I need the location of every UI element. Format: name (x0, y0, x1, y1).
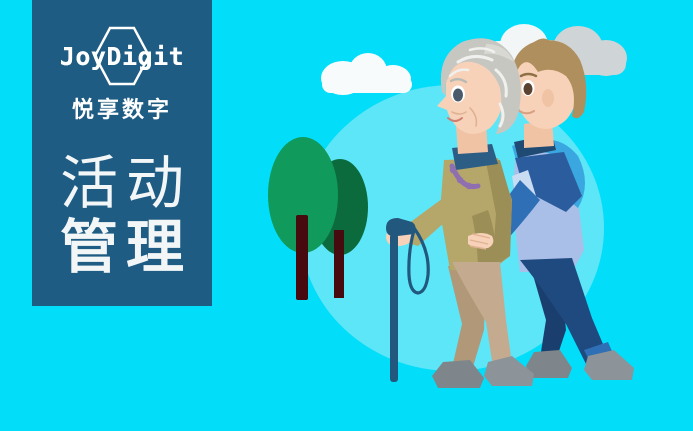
page-title-line-1: 活动 (52, 154, 192, 212)
brand-chinese-name: 悦享数字 (72, 92, 172, 124)
page-title: 活动 管理 (52, 154, 192, 276)
poster-canvas: JoyDigit 悦享数字 活动 管理 (0, 0, 693, 431)
brand-panel: JoyDigit 悦享数字 活动 管理 (32, 0, 212, 306)
logo-block: JoyDigit (48, 28, 196, 84)
logo-wordmark: JoyDigit (60, 42, 184, 71)
page-title-line-2: 管理 (52, 218, 192, 276)
